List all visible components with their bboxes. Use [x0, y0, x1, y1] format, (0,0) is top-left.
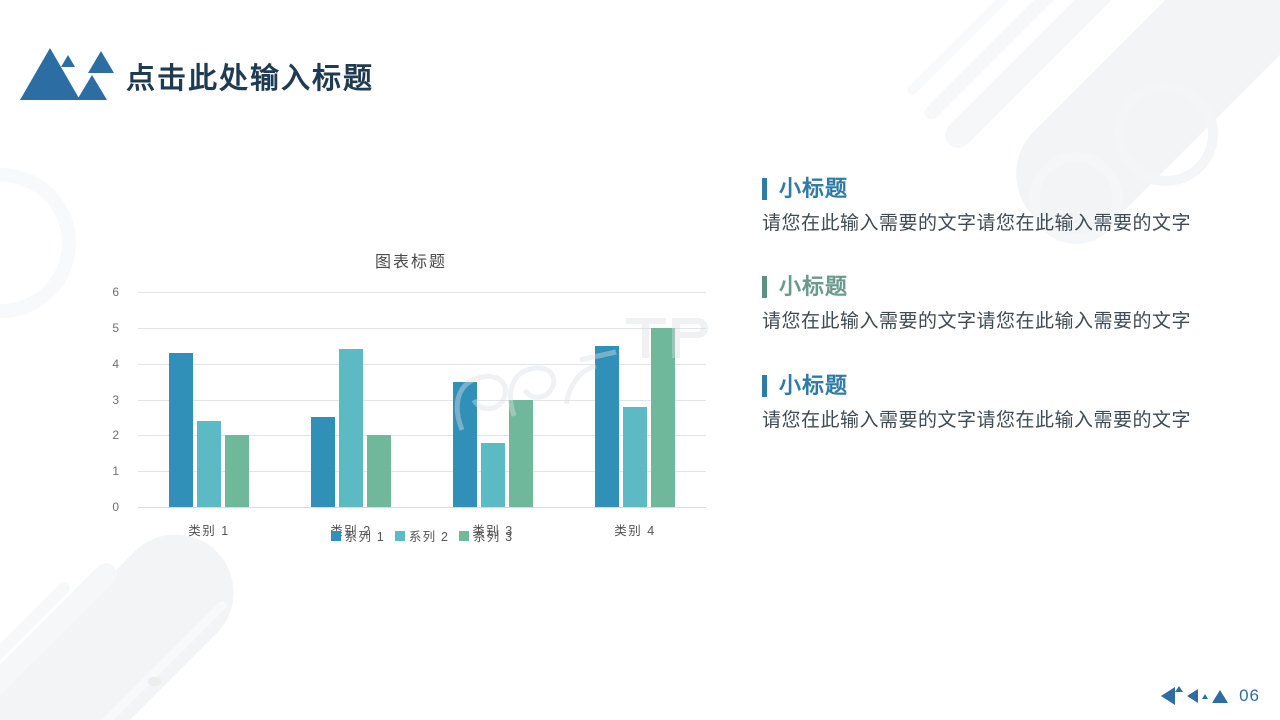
bar[interactable]	[169, 353, 193, 507]
triangle-medium-upper-icon	[88, 51, 114, 73]
y-axis-tick-label: 2	[112, 428, 120, 442]
chart-plot-area	[138, 292, 706, 507]
bar-group	[291, 292, 411, 507]
decor-diagonal-bar	[940, 0, 1171, 153]
triangle-left-medium-icon[interactable]	[1187, 689, 1198, 703]
legend-item[interactable]: 系列 2	[395, 526, 449, 545]
y-axis-tick-label: 1	[112, 464, 120, 478]
triangle-up-tiny-icon	[1202, 694, 1208, 699]
text-block-body: 请您在此输入需要的文字请您在此输入需要的文字	[762, 307, 1222, 336]
y-axis-tick-label: 5	[112, 321, 120, 335]
bar-group	[149, 292, 269, 507]
bar[interactable]	[651, 328, 675, 507]
slide-header: 点击此处输入标题	[20, 30, 374, 100]
legend-item[interactable]: 系列 3	[459, 526, 513, 545]
y-axis-tick-label: 0	[112, 500, 120, 514]
legend-swatch	[331, 531, 341, 541]
triangle-up-small-icon	[1175, 686, 1183, 692]
bar-chart: 图表标题 0123456 类别 1类别 2类别 3类别 4 系列 1系列 2系列…	[96, 248, 706, 578]
decor-circle	[0, 168, 76, 318]
text-block-title: 小标题	[779, 276, 848, 298]
text-block: 小标题请您在此输入需要的文字请您在此输入需要的文字	[762, 178, 1242, 238]
decor-diagonal-bar	[0, 580, 72, 720]
decor-diagonal-bar	[922, 0, 1109, 122]
triangle-tiny-icon	[61, 55, 75, 67]
triangle-up-medium-icon	[1212, 690, 1228, 703]
y-axis-tick-label: 4	[112, 357, 120, 371]
text-block: 小标题请您在此输入需要的文字请您在此输入需要的文字	[762, 375, 1242, 435]
accent-bar	[762, 178, 767, 200]
decor-diagonal-bar	[45, 599, 228, 720]
decor-circle	[1114, 82, 1218, 186]
bar[interactable]	[595, 346, 619, 507]
legend-label: 系列 1	[345, 526, 385, 545]
decor-diagonal-bar	[905, 0, 1061, 97]
footer-navigation: 06	[1161, 686, 1260, 706]
decor-diagonal-bar	[0, 559, 121, 720]
decor-dot	[148, 677, 161, 686]
text-block: 小标题请您在此输入需要的文字请您在此输入需要的文字	[762, 276, 1242, 336]
y-axis-tick-label: 3	[112, 393, 120, 407]
text-block-body: 请您在此输入需要的文字请您在此输入需要的文字	[762, 406, 1222, 435]
y-axis: 0123456	[96, 292, 124, 507]
bar-group	[433, 292, 553, 507]
chart-legend: 系列 1系列 2系列 3	[138, 526, 706, 545]
page-number: 06	[1239, 686, 1260, 706]
legend-label: 系列 2	[409, 526, 449, 545]
chart-plot-wrapper: 0123456 类别 1类别 2类别 3类别 4	[96, 292, 706, 507]
text-block-heading: 小标题	[762, 276, 1242, 298]
triangle-medium-lower-icon	[77, 75, 107, 100]
accent-bar	[762, 375, 767, 397]
mountain-triangles-icon	[20, 34, 118, 100]
legend-label: 系列 3	[473, 526, 513, 545]
triangle-left-icon[interactable]	[1161, 687, 1175, 705]
text-blocks-column: 小标题请您在此输入需要的文字请您在此输入需要的文字小标题请您在此输入需要的文字请…	[762, 178, 1242, 473]
bar[interactable]	[197, 421, 221, 507]
text-block-title: 小标题	[779, 375, 848, 397]
y-axis-tick-label: 6	[112, 285, 120, 299]
bar[interactable]	[453, 382, 477, 507]
text-block-title: 小标题	[779, 178, 848, 200]
legend-item[interactable]: 系列 1	[331, 526, 385, 545]
bar[interactable]	[339, 349, 363, 507]
bar[interactable]	[481, 443, 505, 508]
bar[interactable]	[225, 435, 249, 507]
bar[interactable]	[311, 417, 335, 507]
page-title: 点击此处输入标题	[126, 65, 374, 94]
legend-swatch	[459, 531, 469, 541]
bar[interactable]	[509, 400, 533, 508]
legend-swatch	[395, 531, 405, 541]
bar-group	[575, 292, 695, 507]
bar[interactable]	[367, 435, 391, 507]
text-block-body: 请您在此输入需要的文字请您在此输入需要的文字	[762, 209, 1222, 238]
chart-title: 图表标题	[96, 248, 706, 272]
bar[interactable]	[623, 407, 647, 507]
text-block-heading: 小标题	[762, 178, 1242, 200]
accent-bar	[762, 276, 767, 298]
text-block-heading: 小标题	[762, 375, 1242, 397]
bar-groups	[138, 292, 706, 507]
